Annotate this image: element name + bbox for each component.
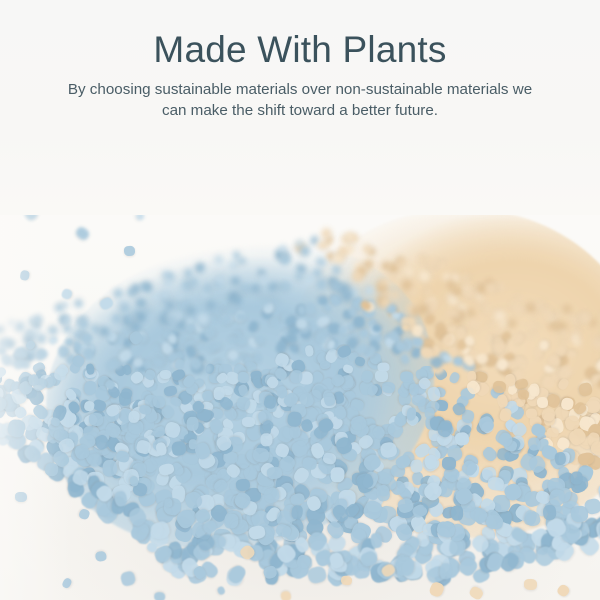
- pellet: [454, 431, 470, 446]
- pellet: [286, 411, 302, 428]
- pellet: [526, 331, 538, 342]
- pellet: [258, 274, 269, 285]
- pellet: [409, 384, 418, 396]
- pellet: [175, 292, 184, 300]
- pellet: [496, 282, 506, 293]
- product-poster: Made With Plants By choosing sustainable…: [0, 0, 600, 600]
- pellet: [528, 321, 538, 331]
- pellet: [507, 319, 517, 330]
- pellet: [483, 304, 492, 314]
- pellet: [253, 447, 270, 463]
- pellet: [439, 563, 452, 579]
- pellet: [304, 274, 316, 285]
- pellet: [554, 310, 563, 320]
- pellet: [486, 333, 493, 343]
- pellet: [360, 369, 374, 384]
- pellet: [295, 319, 307, 329]
- pellet: [451, 287, 461, 295]
- pellet: [15, 492, 27, 502]
- pellet: [194, 262, 206, 274]
- pellet: [120, 570, 137, 587]
- pellet: [187, 417, 199, 431]
- pellet: [423, 287, 433, 297]
- pellet: [74, 226, 91, 243]
- header-section: Made With Plants By choosing sustainable…: [0, 0, 600, 215]
- pellet: [442, 457, 457, 470]
- pellet: [237, 372, 249, 384]
- pellet: [61, 576, 73, 589]
- pellet: [247, 320, 260, 334]
- pellet: [375, 370, 389, 383]
- pellet: [260, 433, 273, 447]
- pellet: [279, 282, 287, 292]
- pellet: [177, 335, 186, 346]
- pellet: [320, 360, 331, 369]
- pellet: [404, 267, 415, 278]
- pellet: [567, 349, 577, 358]
- pellet: [302, 457, 317, 470]
- pellet: [123, 245, 134, 256]
- pellet: [518, 389, 529, 399]
- pellet: [235, 336, 247, 348]
- pellet: [396, 556, 415, 576]
- pellet: [418, 270, 431, 283]
- pellet: [263, 486, 280, 504]
- pellet: [555, 583, 571, 599]
- pellet: [53, 303, 64, 314]
- pellet: [236, 313, 247, 321]
- pellet: [353, 316, 365, 328]
- pellet: [467, 318, 481, 332]
- pellet: [514, 304, 524, 314]
- pellet: [98, 295, 115, 311]
- pellet: [331, 263, 342, 275]
- pellet: [185, 323, 197, 335]
- pellet: [448, 371, 461, 385]
- pellet: [397, 257, 406, 268]
- pellet: [94, 551, 107, 563]
- pellet: [332, 254, 343, 264]
- pellet: [0, 325, 5, 334]
- pellet: [398, 353, 410, 366]
- pellet: [48, 334, 60, 346]
- pellet: [266, 281, 278, 293]
- page-title: Made With Plants: [0, 0, 600, 72]
- pellet: [486, 282, 497, 294]
- pellet: [175, 359, 185, 370]
- pellet: [570, 472, 582, 485]
- pellet: [216, 586, 226, 596]
- pellet: [163, 497, 173, 507]
- pellet: [466, 306, 477, 317]
- pellet: [189, 277, 199, 288]
- pellet: [77, 508, 90, 521]
- pellet: [426, 257, 438, 269]
- pellet: [468, 586, 484, 600]
- pellet: [297, 305, 306, 315]
- pellet: [231, 277, 241, 286]
- pellet: [481, 445, 499, 463]
- pellet: [451, 505, 463, 520]
- pellet: [89, 413, 103, 426]
- pellet: [305, 303, 317, 315]
- pellet: [238, 258, 246, 265]
- pellet: [162, 277, 174, 290]
- pellet: [306, 565, 327, 585]
- pellet: [110, 312, 123, 325]
- pellet: [399, 371, 412, 383]
- pellet: [60, 288, 73, 301]
- pellet: [390, 290, 400, 300]
- pellet: [364, 285, 375, 296]
- pellet: [20, 270, 30, 281]
- pellet: [571, 505, 589, 522]
- page-subheading: By choosing sustainable materials over n…: [65, 80, 535, 121]
- pellet: [524, 578, 537, 589]
- pellet: [319, 297, 328, 305]
- pellet: [241, 416, 254, 427]
- pellet: [524, 511, 541, 528]
- pellet: [539, 340, 550, 352]
- pellet: [412, 337, 423, 347]
- pellet: [423, 313, 436, 326]
- pellet: [154, 591, 166, 600]
- pellet: [202, 283, 212, 295]
- pellet: [74, 299, 83, 308]
- pellet: [254, 335, 265, 346]
- pellet: [340, 576, 352, 586]
- pellet: [61, 315, 71, 325]
- pellet: [163, 384, 178, 397]
- pellet: [136, 311, 147, 323]
- pellet: [391, 311, 401, 319]
- pellet: [83, 400, 95, 412]
- pellet: [542, 504, 557, 520]
- pellet: [231, 295, 243, 306]
- pellet: [196, 312, 210, 326]
- pellet: [47, 325, 58, 336]
- pellet: [381, 382, 395, 394]
- pellet: [358, 328, 369, 339]
- pellet: [411, 306, 419, 315]
- pellet: [187, 306, 196, 314]
- pellets-photo: [0, 150, 600, 600]
- pellet: [113, 287, 124, 298]
- pellet: [558, 327, 569, 338]
- pellet: [214, 254, 225, 265]
- pellet: [281, 591, 292, 600]
- pellet: [378, 363, 390, 372]
- pellet: [290, 369, 303, 383]
- pellet: [160, 370, 172, 379]
- pellet: [315, 278, 328, 291]
- pellet-field: [0, 150, 600, 600]
- pellet: [315, 256, 327, 268]
- pellet: [189, 439, 197, 449]
